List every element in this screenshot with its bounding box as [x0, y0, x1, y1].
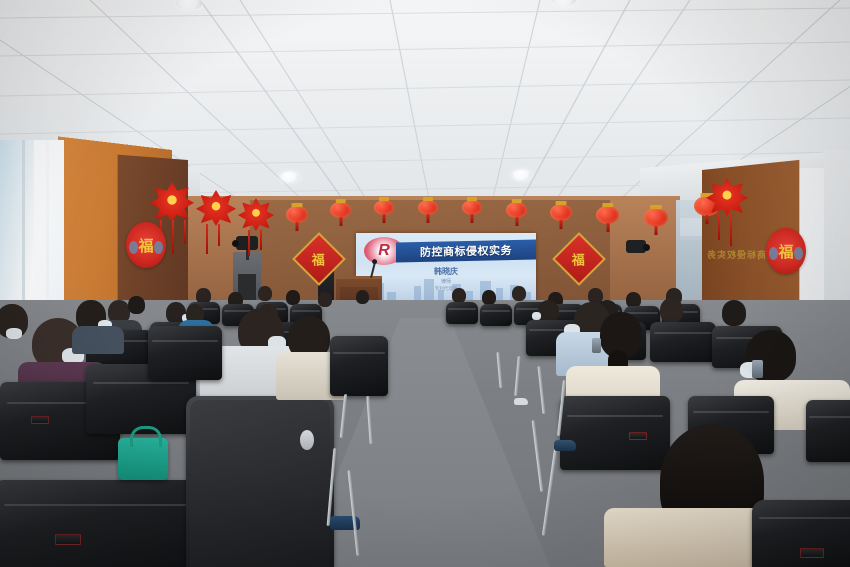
slide-title-text: 防控商标侵权实务 — [420, 242, 512, 260]
ceiling-light — [280, 172, 299, 182]
ornament-tassel — [730, 214, 732, 246]
mobile-phone — [752, 360, 763, 378]
ornament-tassel — [206, 224, 208, 254]
ceiling-light — [512, 170, 531, 180]
chair-brand-logo — [800, 548, 824, 558]
slide-presenter-org: 专利代理师 — [356, 286, 536, 292]
fu-character: 福 — [138, 235, 153, 256]
projection-screen: R 防控商标侵权实务 韩晓庆 律师 专利代理师 — [356, 233, 536, 301]
slide-title-banner: 防控商标侵权实务 — [396, 240, 536, 263]
audience-head — [286, 290, 300, 305]
red-lantern — [374, 200, 394, 215]
chair — [480, 304, 512, 326]
mobile-phone — [592, 338, 601, 353]
fu-ornament-right-wall: 福 — [766, 228, 806, 274]
ornament-tassel — [218, 224, 220, 246]
red-lantern — [418, 200, 438, 215]
shoe — [554, 440, 576, 451]
chair — [806, 400, 850, 462]
audience-body — [72, 326, 124, 354]
ornament-tassel — [172, 220, 174, 254]
video-camera-left — [236, 236, 258, 250]
video-camera-right — [626, 240, 646, 253]
audience-head — [482, 290, 496, 305]
red-lantern — [506, 202, 527, 218]
chair — [650, 322, 716, 362]
new-year-flower-ornament — [150, 182, 194, 222]
ornament-tassel — [260, 230, 262, 250]
red-lantern — [644, 208, 668, 227]
red-lantern — [550, 204, 572, 221]
fu-character: 福 — [312, 249, 325, 268]
chair — [560, 396, 670, 470]
audience-head — [722, 300, 746, 326]
chair — [446, 302, 478, 324]
audience-head — [318, 292, 332, 307]
audience-head — [452, 288, 466, 303]
audience-head — [660, 298, 683, 323]
slide-presenter-subtitle: 律师 — [356, 278, 536, 285]
fu-character: 福 — [778, 241, 793, 262]
red-lantern — [596, 206, 619, 224]
new-year-flower-ornament — [706, 178, 748, 216]
chair-brand-logo — [629, 432, 647, 440]
face-mask — [532, 312, 541, 320]
audience-head — [258, 286, 272, 301]
red-lantern — [462, 200, 482, 215]
audience-head — [512, 286, 526, 301]
conference-room-photo: R 防控商标侵权实务 韩晓庆 律师 专利代理师 防控商标侵权实务 福 — [0, 0, 850, 567]
handbag — [118, 438, 168, 480]
chair — [330, 336, 388, 396]
new-year-flower-ornament — [196, 190, 236, 226]
red-lantern — [330, 202, 351, 218]
slide-presenter-name: 韩晓庆 — [356, 266, 536, 277]
ornament-tassel — [718, 214, 720, 240]
fu-character: 福 — [572, 249, 585, 268]
fu-ornament-left-wall: 福 — [126, 222, 166, 268]
face-mask — [6, 328, 22, 339]
ornament-tassel — [248, 230, 250, 256]
chair-brand-logo — [55, 534, 81, 545]
audience-head — [128, 296, 145, 314]
ornament-tassel — [184, 220, 186, 244]
shoe — [514, 398, 528, 405]
chair-brand-logo — [31, 416, 49, 424]
new-year-flower-ornament — [238, 198, 274, 231]
audience-head — [356, 290, 369, 304]
chair — [148, 326, 222, 380]
jacket-logo — [300, 430, 314, 450]
red-lantern — [286, 206, 308, 223]
draped-jacket — [190, 400, 330, 567]
